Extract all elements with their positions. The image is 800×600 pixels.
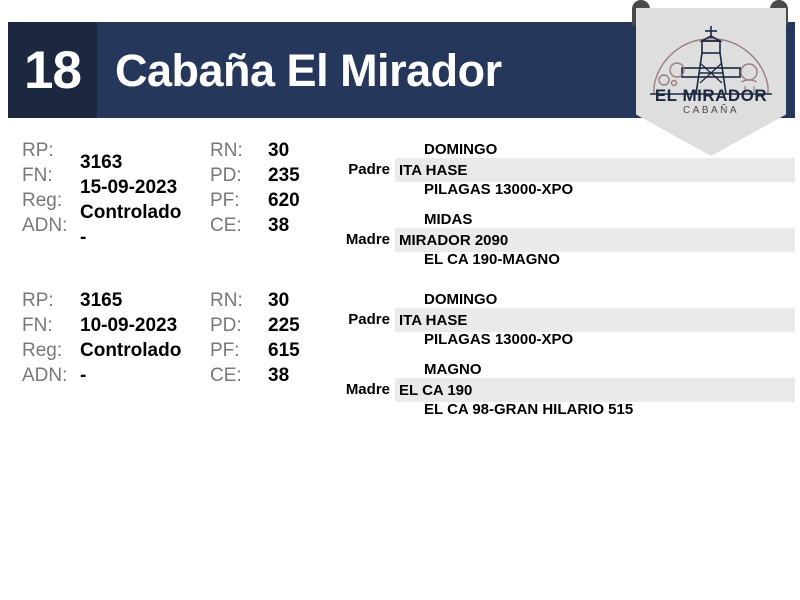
stat-label: PF: [210,188,240,213]
stat-value: 620 [268,188,300,213]
pedigree-grandsire: DOMINGO [424,141,497,158]
pedigree-side-label: Madre [330,381,390,398]
stat-label: CE: [210,363,242,388]
header-number-box: 18 [8,22,97,118]
pedigree-grandsire: MIDAS [424,211,472,228]
stat-label: Reg: [22,188,62,213]
stat-label: FN: [22,313,53,338]
pedigree-group-dam: Madre MIDAS MIRADOR 2090 EL CA 190-MAGNO [330,208,795,278]
pedigree-parent-row: ITA HASE [395,308,795,332]
stat-row: RN: 30 [210,288,320,313]
stat-label: RN: [210,138,243,163]
stat-value: 38 [268,213,289,238]
logo-name: EL MIRADOR [636,86,786,106]
pedigree-parent-name: MIRADOR 2090 [395,232,508,249]
stats-column-primary: RP: 3163 FN: 15-09-2023 Reg: Controlado … [22,138,207,238]
stat-label: RP: [22,138,54,163]
stat-row: PF: 615 [210,338,320,363]
stat-value: - [80,363,86,388]
pedigree-parent-row: MIRADOR 2090 [395,228,795,252]
stat-row: ADN: - [22,213,207,238]
stat-value: 3165 [80,288,122,313]
stat-row: RP: 3163 [22,138,207,163]
stat-value: 235 [268,163,300,188]
stat-row: CE: 38 [210,213,320,238]
stat-value: 30 [268,288,289,313]
stat-label: RN: [210,288,243,313]
pedigree-parent-name: EL CA 190 [395,382,472,399]
pedigree-side-label: Padre [330,311,390,328]
stat-label: ADN: [22,363,67,388]
stat-row: FN: 10-09-2023 [22,313,207,338]
pedigree-group-sire: Padre DOMINGO ITA HASE PILAGAS 13000-XPO [330,288,795,358]
pedigree-group-dam: Madre MAGNO EL CA 190 EL CA 98-GRAN HILA… [330,358,795,428]
stat-row: PD: 225 [210,313,320,338]
stat-value: - [80,225,86,250]
stat-label: ADN: [22,213,67,238]
stat-row: PD: 235 [210,163,320,188]
stats-column-secondary: RN: 30 PD: 235 PF: 620 CE: 38 [210,138,320,238]
stat-row: RP: 3165 [22,288,207,313]
stat-label: PD: [210,313,242,338]
stat-label: RP: [22,288,54,313]
stat-row: Reg: Controlado [22,338,207,363]
stat-value: Controlado [80,338,181,363]
pedigree-parent-row: ITA HASE [395,158,795,182]
logo-subtitle: CABAÑA [636,105,786,116]
stat-value: 30 [268,138,289,163]
stats-column-secondary: RN: 30 PD: 225 PF: 615 CE: 38 [210,288,320,388]
stat-label: FN: [22,163,53,188]
page-title: Cabaña El Mirador [115,48,502,93]
stat-label: PF: [210,338,240,363]
stat-row: RN: 30 [210,138,320,163]
stat-label: Reg: [22,338,62,363]
pedigree-grandsire: MAGNO [424,361,482,378]
pedigree-granddam: EL CA 98-GRAN HILARIO 515 [424,401,633,418]
pedigree-grandsire: DOMINGO [424,291,497,308]
pedigree-side-label: Padre [330,161,390,178]
pedigree-granddam: EL CA 190-MAGNO [424,251,560,268]
pedigree-group-sire: Padre DOMINGO ITA HASE PILAGAS 13000-XPO [330,138,795,208]
stat-value: 38 [268,363,289,388]
pedigree-granddam: PILAGAS 13000-XPO [424,331,573,348]
stat-row: PF: 620 [210,188,320,213]
pedigree-parent-name: ITA HASE [395,162,467,179]
pedigree-panel: Padre DOMINGO ITA HASE PILAGAS 13000-XPO… [330,288,795,428]
stat-label: CE: [210,213,242,238]
stat-value: 225 [268,313,300,338]
pedigree-granddam: PILAGAS 13000-XPO [424,181,573,198]
pedigree-parent-name: ITA HASE [395,312,467,329]
stat-label: PD: [210,163,242,188]
windmill-tower-icon [636,8,786,156]
stats-column-primary: RP: 3165 FN: 10-09-2023 Reg: Controlado … [22,288,207,388]
stat-row: Reg: Controlado [22,188,207,213]
stat-row: FN: 15-09-2023 [22,163,207,188]
pedigree-side-label: Madre [330,231,390,248]
lot-number: 18 [24,44,81,97]
brand-logo: EL MIRADOR CABAÑA [628,0,800,158]
stat-row: CE: 38 [210,363,320,388]
stat-value: 615 [268,338,300,363]
pedigree-parent-row: EL CA 190 [395,378,795,402]
pedigree-panel: Padre DOMINGO ITA HASE PILAGAS 13000-XPO… [330,138,795,278]
stat-value: 10-09-2023 [80,313,177,338]
stat-row: ADN: - [22,363,207,388]
